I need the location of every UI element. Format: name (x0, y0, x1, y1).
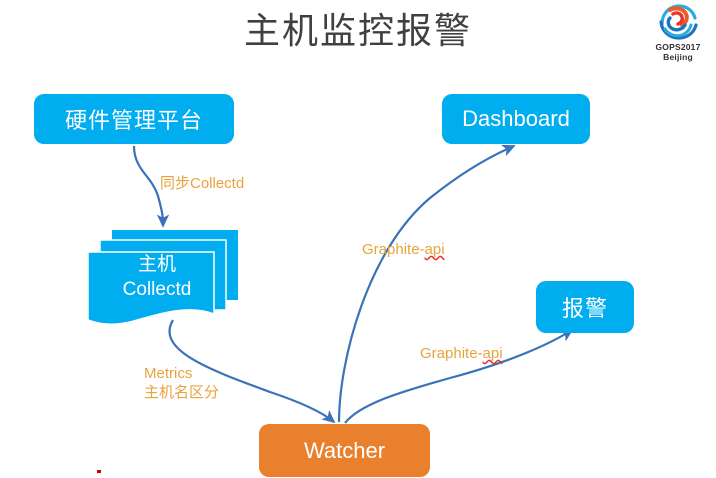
edge-watcher-to-dashboard (339, 146, 514, 422)
stray-mark (97, 470, 101, 473)
edge-label-graphite-prefix-2: Graphite- (420, 345, 483, 362)
node-hardware-platform[interactable]: 硬件管理平台 (34, 94, 234, 144)
node-watcher-label: Watcher (304, 438, 385, 464)
gops-logo-icon (656, 2, 700, 42)
edge-label-graphite-prefix-1: Graphite- (362, 241, 425, 258)
slide-canvas: 主机监控报警 GOPS2017 Beijing 硬 (0, 0, 716, 478)
logo-line-2: Beijing (648, 52, 708, 62)
edge-hardware-to-collectd (134, 146, 163, 226)
node-dashboard-label: Dashboard (462, 106, 570, 132)
node-host-collectd[interactable]: 主机 Collectd (88, 228, 238, 326)
node-alert-label: 报警 (562, 291, 608, 323)
edge-label-graphite-suffix-1: api (425, 241, 445, 258)
node-host-collectd-label: 主机 Collectd (88, 252, 226, 302)
page-title: 主机监控报警 (0, 8, 716, 54)
node-alert[interactable]: 报警 (536, 281, 634, 333)
node-hardware-platform-label: 硬件管理平台 (65, 103, 203, 135)
edge-label-sync-collectd: 同步Collectd (160, 174, 244, 193)
logo-line-1: GOPS2017 (648, 42, 708, 52)
node-dashboard[interactable]: Dashboard (442, 94, 590, 144)
edge-label-graphite-api-alert: Graphite-api (420, 344, 503, 363)
edge-label-graphite-api-dashboard: Graphite-api (362, 240, 445, 259)
edge-label-graphite-suffix-2: api (483, 345, 503, 362)
gops-logo: GOPS2017 Beijing (648, 2, 708, 64)
node-watcher[interactable]: Watcher (259, 424, 430, 477)
edge-label-metrics: Metrics 主机名区分 (144, 364, 219, 402)
